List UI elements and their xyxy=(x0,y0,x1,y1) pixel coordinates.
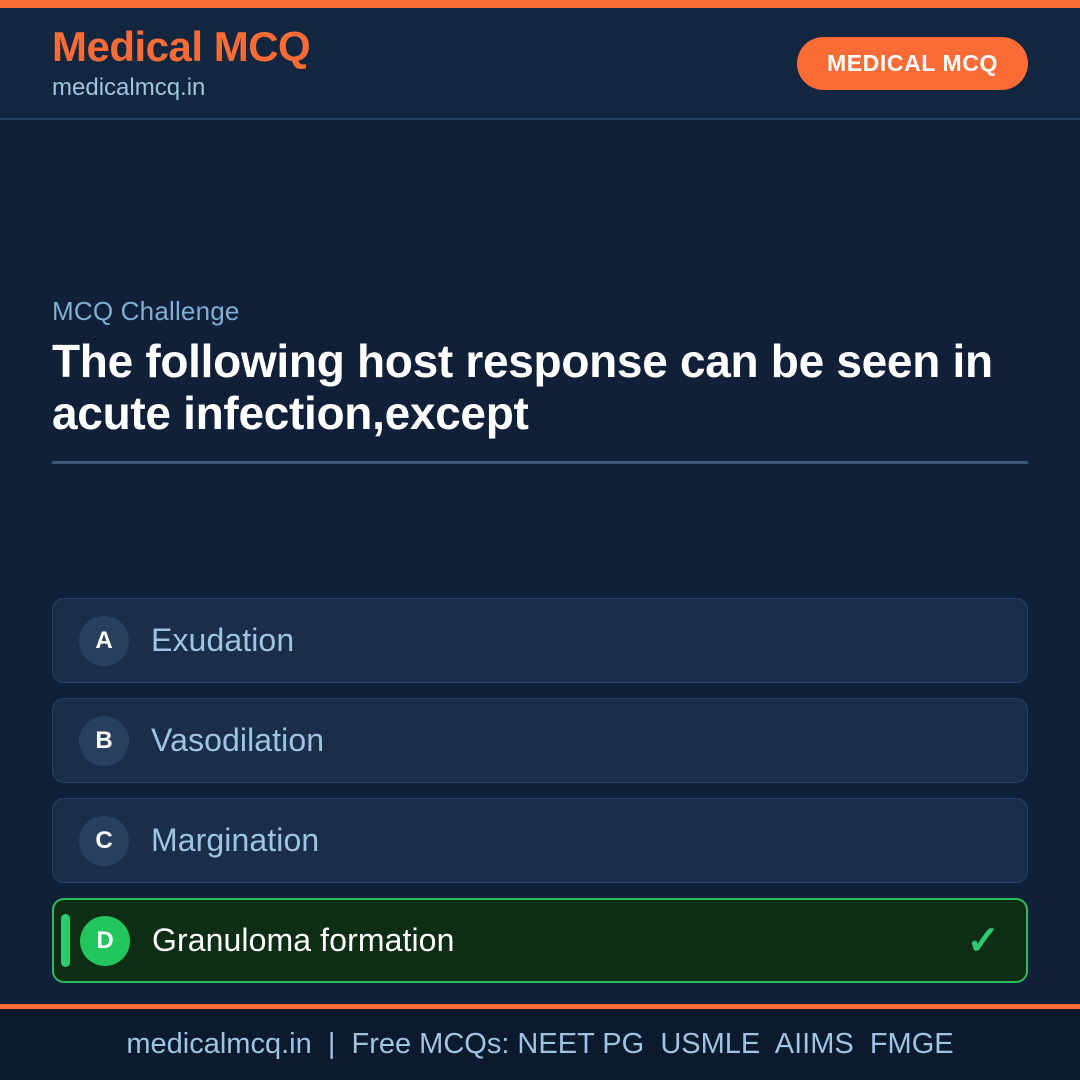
option-b[interactable]: B Vasodilation xyxy=(52,698,1028,783)
main-content: MCQ Challenge The following host respons… xyxy=(0,120,1080,1004)
question-text: The following host response can be seen … xyxy=(52,336,1028,439)
option-a-badge: A xyxy=(79,616,129,666)
option-b-label: Vasodilation xyxy=(151,722,324,759)
question-eyebrow: MCQ Challenge xyxy=(52,296,1028,327)
option-d-correct[interactable]: D Granuloma formation ✓ xyxy=(52,898,1028,983)
check-icon: ✓ xyxy=(966,921,1000,961)
option-c-label: Margination xyxy=(151,822,319,859)
footer: medicalmcq.in | Free MCQs: NEET PG USMLE… xyxy=(0,1009,1080,1080)
correct-accent-bar xyxy=(61,914,70,967)
brand-block: Medical MCQ medicalmcq.in xyxy=(52,26,310,100)
brand-badge: MEDICAL MCQ xyxy=(797,37,1028,90)
question-zone: MCQ Challenge The following host respons… xyxy=(52,296,1028,464)
top-accent-bar xyxy=(0,0,1080,8)
option-b-badge: B xyxy=(79,716,129,766)
option-c-badge: C xyxy=(79,816,129,866)
footer-text: medicalmcq.in | Free MCQs: NEET PG USMLE… xyxy=(126,1028,953,1061)
option-a[interactable]: A Exudation xyxy=(52,598,1028,683)
options-list: A Exudation B Vasodilation C Margination… xyxy=(52,598,1028,983)
option-a-label: Exudation xyxy=(151,622,294,659)
brand-subtitle: medicalmcq.in xyxy=(52,76,310,100)
brand-title: Medical MCQ xyxy=(52,26,310,68)
question-divider xyxy=(52,461,1028,464)
mcq-card: Medical MCQ medicalmcq.in MEDICAL MCQ MC… xyxy=(0,0,1080,1080)
option-c[interactable]: C Margination xyxy=(52,798,1028,883)
option-d-badge: D xyxy=(80,916,130,966)
option-d-label: Granuloma formation xyxy=(152,922,454,959)
header: Medical MCQ medicalmcq.in MEDICAL MCQ xyxy=(0,8,1080,120)
